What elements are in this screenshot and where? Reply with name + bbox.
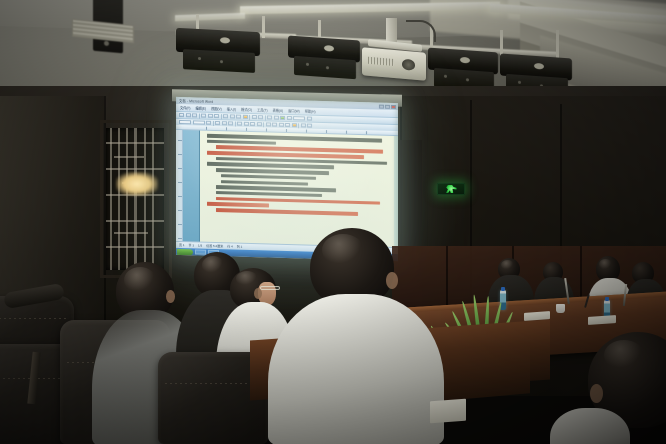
spellcheck-icon[interactable]	[214, 114, 219, 119]
align-left-icon[interactable]	[237, 121, 242, 126]
projector-body	[362, 47, 426, 81]
lattice-backlight-glow	[116, 172, 158, 196]
format-painter-icon[interactable]	[243, 115, 248, 120]
projector-mount	[386, 18, 397, 44]
vertical-ruler[interactable]	[176, 130, 183, 241]
cut-icon[interactable]	[223, 114, 228, 119]
help-icon[interactable]	[307, 116, 312, 121]
maximize-icon[interactable]	[385, 104, 390, 108]
save-icon[interactable]	[192, 113, 197, 118]
undo-icon[interactable]	[252, 115, 257, 120]
redo-icon[interactable]	[258, 115, 263, 120]
align-right-icon[interactable]	[250, 122, 255, 127]
ceiling-spotlight-2	[288, 35, 360, 80]
font-select[interactable]	[193, 120, 205, 125]
light-hanger-5	[500, 30, 503, 56]
font-color-icon[interactable]	[307, 123, 312, 128]
justify-icon[interactable]	[257, 122, 262, 127]
drawing-icon[interactable]	[287, 116, 292, 121]
font-size-select[interactable]	[206, 121, 211, 126]
word-title-text: 文档 - Microsoft Word	[176, 98, 213, 104]
copy-icon[interactable]	[230, 114, 235, 119]
minimize-icon[interactable]	[379, 104, 384, 108]
bullets-icon[interactable]	[266, 122, 271, 127]
menu-item-help[interactable]: 帮助(H)	[305, 108, 316, 113]
ceiling-projector	[362, 38, 426, 82]
bold-icon[interactable]	[215, 121, 220, 126]
menu-item-format[interactable]: 格式(O)	[241, 107, 252, 112]
indent-decrease-icon[interactable]	[279, 123, 284, 128]
paste-icon[interactable]	[236, 114, 241, 119]
running-person-icon	[446, 185, 457, 193]
emergency-exit-sign	[437, 183, 465, 195]
ceiling-spotlight-1	[176, 28, 260, 74]
indent-increase-icon[interactable]	[285, 123, 290, 128]
underline-icon[interactable]	[228, 121, 233, 126]
status-position: 位置 5.2厘米	[206, 244, 223, 248]
menu-item-table[interactable]: 表格(A)	[273, 108, 284, 113]
paper-cup[interactable]	[556, 304, 565, 313]
menu-item-tools[interactable]: 工具(T)	[257, 107, 267, 112]
close-icon[interactable]	[391, 104, 396, 108]
status-line: 行 4	[227, 244, 233, 248]
insert-table-icon[interactable]	[267, 115, 272, 120]
document-text-line	[216, 208, 358, 216]
numbering-icon[interactable]	[272, 122, 277, 127]
document-text-line	[207, 202, 269, 207]
style-select[interactable]	[179, 120, 191, 125]
insert-chart-icon[interactable]	[274, 115, 279, 120]
new-doc-icon[interactable]	[179, 113, 184, 118]
borders-icon[interactable]	[301, 123, 306, 128]
document-text-line	[216, 191, 322, 198]
print-preview-icon[interactable]	[208, 114, 213, 119]
menu-item-window[interactable]: 窗口(W)	[288, 108, 300, 113]
document-text-line	[207, 139, 276, 145]
light-hanger-2	[262, 16, 265, 38]
attendee-foreground-main	[268, 228, 444, 444]
attendee-foreground-right	[560, 336, 666, 444]
status-page: 页 1	[179, 243, 185, 247]
print-icon[interactable]	[201, 113, 206, 118]
columns-icon[interactable]	[280, 116, 285, 121]
document-text-line	[221, 174, 316, 180]
italic-icon[interactable]	[222, 121, 227, 126]
menu-item-insert[interactable]: 插入(I)	[227, 106, 236, 111]
lattice-panel-left	[106, 128, 164, 270]
open-icon[interactable]	[186, 113, 191, 118]
projector-lens-icon	[402, 59, 415, 71]
align-center-icon[interactable]	[244, 122, 249, 127]
highlight-color-icon[interactable]	[292, 123, 297, 128]
zoom-level-select[interactable]	[293, 116, 305, 121]
menu-item-view[interactable]: 视图(V)	[211, 106, 222, 111]
notepad-foreground[interactable]	[430, 399, 466, 424]
conference-room-scene: 文档 - Microsoft Word 文件(F) 编辑(E) 视图(V) 插入…	[0, 0, 666, 444]
menu-item-edit[interactable]: 编辑(E)	[195, 105, 206, 110]
menu-item-file[interactable]: 文件(F)	[180, 105, 190, 110]
status-section: 节 1	[189, 243, 195, 247]
light-hanger-6	[556, 30, 559, 58]
window-controls[interactable]	[379, 104, 398, 109]
status-pagecount: 1/3	[198, 244, 202, 248]
status-column: 列 1	[237, 245, 243, 249]
document-map-pane[interactable]	[183, 130, 200, 241]
